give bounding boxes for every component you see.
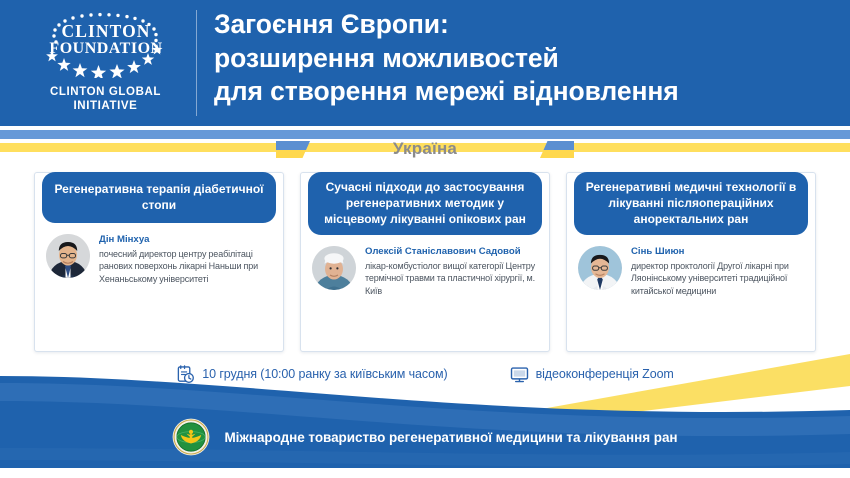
clinton-global-initiative-label: CLINTON GLOBAL INITIATIVE bbox=[50, 85, 161, 113]
speaker-name: Сінь Шиюн bbox=[631, 246, 805, 258]
event-platform-item: відеоконференція Zoom bbox=[510, 365, 674, 384]
clinton-foundation-logo: CLINTON FOUNDATION CLINTON GLOBAL INITIA… bbox=[18, 6, 193, 122]
page-title-line-3: для створення мережі відновлення bbox=[214, 75, 839, 109]
footer-text: Міжнародне товариство регенеративної мед… bbox=[224, 430, 677, 445]
country-banner: Україна bbox=[0, 136, 850, 162]
speaker-role: почесний директор центру реабілітаці ран… bbox=[99, 248, 273, 286]
page-title-line-1: Загоєння Європи: bbox=[214, 8, 839, 42]
avatar bbox=[312, 246, 356, 290]
avatar bbox=[578, 246, 622, 290]
clinton-foundation-mark-icon: CLINTON FOUNDATION bbox=[30, 12, 182, 78]
cgi-line-2: INITIATIVE bbox=[50, 99, 161, 113]
footer-bar: Міжнародне товариство регенеративної мед… bbox=[0, 414, 850, 460]
cgi-line-1: CLINTON GLOBAL bbox=[50, 85, 161, 99]
country-name: Україна bbox=[379, 139, 471, 159]
slide-bottom-edge bbox=[0, 468, 850, 478]
svg-text:CLINTON: CLINTON bbox=[61, 21, 150, 41]
session-title: Сучасні підходи до застосування регенера… bbox=[308, 172, 542, 235]
speaker-text: Олексій Станіславович Садовой лікар-комб… bbox=[365, 246, 539, 298]
page-title: Загоєння Європи: розширення можливостей … bbox=[214, 8, 839, 109]
monitor-icon bbox=[510, 365, 529, 384]
speaker-role: лікар-комбустіолог вищої категорії Центр… bbox=[365, 260, 539, 298]
slide-header: CLINTON FOUNDATION CLINTON GLOBAL INITIA… bbox=[0, 0, 850, 126]
event-info-row: 10 грудня (10:00 ранку за київським часо… bbox=[0, 360, 850, 388]
event-platform-text: відеоконференція Zoom bbox=[536, 367, 674, 381]
speaker-block: Дін Мінхуа почесний директор центру реаб… bbox=[35, 223, 283, 286]
calendar-clock-icon bbox=[176, 365, 195, 384]
speaker-role: директор проктології Другої лікарні при … bbox=[631, 260, 805, 298]
speaker-text: Дін Мінхуа почесний директор центру реаб… bbox=[99, 234, 273, 286]
session-card[interactable]: Регенеративні медичні технології в лікув… bbox=[566, 172, 816, 352]
speaker-name: Олексій Станіславович Садовой bbox=[365, 246, 539, 258]
session-card[interactable]: Регенеративна терапія діабетичної стопи bbox=[34, 172, 284, 352]
presentation-slide: CLINTON FOUNDATION CLINTON GLOBAL INITIA… bbox=[0, 0, 850, 478]
svg-text:FOUNDATION: FOUNDATION bbox=[49, 40, 162, 57]
avatar bbox=[46, 234, 90, 278]
event-date-text: 10 грудня (10:00 ранку за київським часо… bbox=[202, 367, 447, 381]
session-cards: Регенеративна терапія діабетичної стопи bbox=[0, 172, 850, 352]
event-date-item: 10 грудня (10:00 ранку за київським часо… bbox=[176, 365, 447, 384]
speaker-name: Дін Мінхуа bbox=[99, 234, 273, 246]
speaker-block: Сінь Шиюн директор проктології Другої лі… bbox=[567, 235, 815, 298]
session-title: Регенеративні медичні технології в лікув… bbox=[574, 172, 808, 235]
speaker-block: Олексій Станіславович Садовой лікар-комб… bbox=[301, 235, 549, 298]
speaker-text: Сінь Шиюн директор проктології Другої лі… bbox=[631, 246, 805, 298]
green-emblem-icon bbox=[172, 418, 210, 456]
session-title: Регенеративна терапія діабетичної стопи bbox=[42, 172, 276, 223]
header-divider bbox=[196, 10, 197, 116]
session-card[interactable]: Сучасні підходи до застосування регенера… bbox=[300, 172, 550, 352]
page-title-line-2: розширення можливостей bbox=[214, 42, 839, 76]
